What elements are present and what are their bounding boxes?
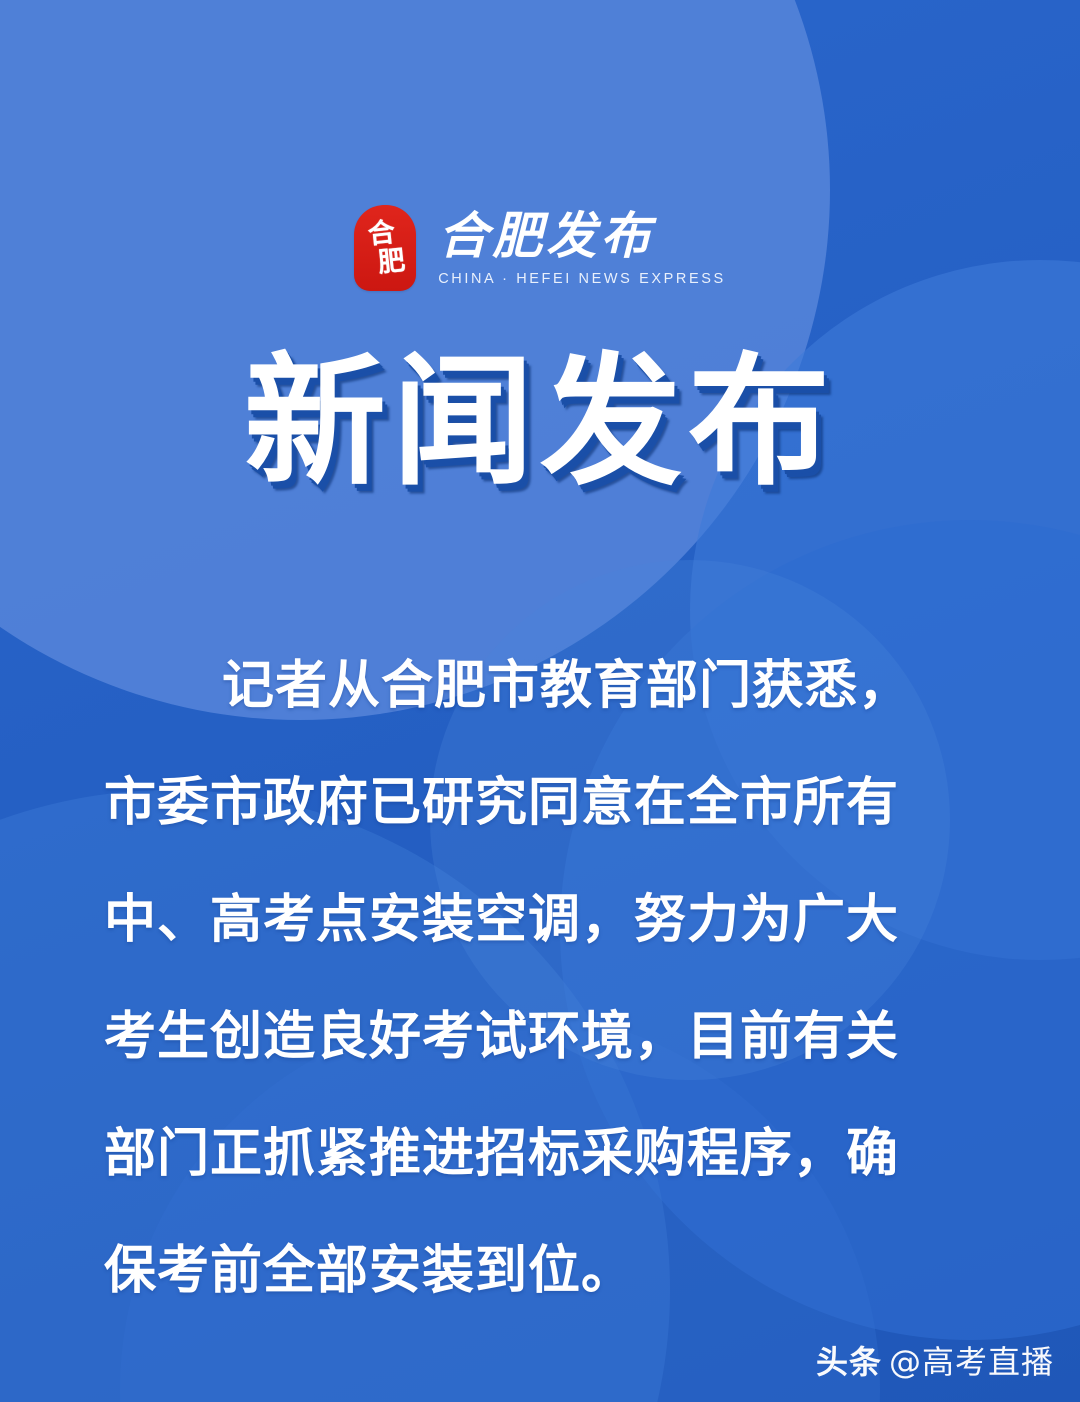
body-line: 保考前全部安装到位。	[104, 1245, 976, 1305]
seal-glyph: 合 肥	[350, 202, 421, 294]
brand-name-cn: 合肥发布	[438, 210, 654, 263]
brand-name-en: CHINA · HEFEI NEWS EXPRESS	[438, 272, 726, 287]
body-line: 部门正抓紧推进招标采购程序，确	[104, 1128, 976, 1188]
seal-char-he: 合	[367, 219, 395, 248]
brand-text-block: 合肥发布 CHINA · HEFEI NEWS EXPRESS	[438, 210, 726, 287]
body-line: 记者从合肥市教育部门获悉，	[104, 660, 976, 720]
hefei-seal-logo: 合 肥	[354, 205, 416, 291]
body-line: 市委市政府已研究同意在全市所有	[104, 777, 976, 837]
body-line: 中、高考点安装空调，努力为广大	[104, 894, 976, 954]
poster-content: 合 肥 合肥发布 CHINA · HEFEI NEWS EXPRESS 新闻发布…	[0, 0, 1080, 1402]
watermark-platform: 头条	[816, 1346, 882, 1378]
news-poster: 合 肥 合肥发布 CHINA · HEFEI NEWS EXPRESS 新闻发布…	[0, 0, 1080, 1402]
watermark: 头条 @高考直播	[816, 1346, 1054, 1378]
body-line: 考生创造良好考试环境，目前有关	[104, 1011, 976, 1071]
headline-title: 新闻发布	[0, 352, 1080, 494]
body-copy: 记者从合肥市教育部门获悉， 市委市政府已研究同意在全市所有 中、高考点安装空调，…	[104, 660, 976, 1305]
watermark-handle: @高考直播	[889, 1346, 1054, 1378]
brand-lockup: 合 肥 合肥发布 CHINA · HEFEI NEWS EXPRESS	[0, 205, 1080, 291]
seal-char-fei: 肥	[377, 247, 405, 276]
